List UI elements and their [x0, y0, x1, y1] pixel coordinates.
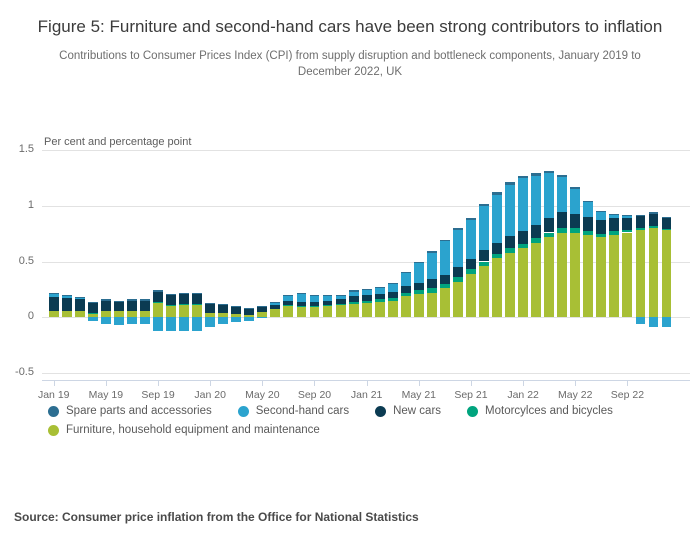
- bar-segment: [388, 298, 398, 300]
- bar-segment: [127, 301, 137, 311]
- bar-group[interactable]: [479, 128, 489, 380]
- bar-segment: [349, 302, 359, 304]
- bar-segment: [570, 187, 580, 189]
- bar-segment: [596, 212, 606, 220]
- legend-item-label: Spare parts and accessories: [66, 405, 212, 417]
- bar-segment: [401, 273, 411, 286]
- bar-segment: [440, 284, 450, 288]
- bar-segment: [479, 204, 489, 206]
- bar-segment: [401, 296, 411, 317]
- bar-segment: [453, 277, 463, 281]
- bar-segment: [479, 206, 489, 251]
- bar-segment: [636, 216, 646, 228]
- bar-segment: [218, 305, 228, 313]
- bar-group[interactable]: [453, 128, 463, 380]
- bar-segment: [310, 296, 320, 302]
- bar-segment: [166, 305, 176, 306]
- bar-group[interactable]: [609, 128, 619, 380]
- bar-segment: [270, 302, 280, 303]
- x-axis-tick-label: Jan 22: [507, 389, 539, 401]
- legend-item[interactable]: Second-hand cars: [238, 405, 349, 417]
- bar-segment: [518, 244, 528, 248]
- bar-segment: [62, 295, 72, 296]
- bar-segment: [49, 294, 59, 297]
- bar-segment: [362, 301, 372, 303]
- bar-segment: [270, 303, 280, 305]
- bar-segment: [153, 317, 163, 330]
- bar-segment: [479, 266, 489, 317]
- x-axis-tick-mark: [523, 380, 524, 386]
- bar-segment: [62, 296, 72, 298]
- bar-segment: [505, 185, 515, 236]
- bar-segment: [140, 317, 150, 324]
- bar-segment: [283, 301, 293, 305]
- bar-segment: [414, 294, 424, 317]
- x-axis-tick-mark: [262, 380, 263, 386]
- bar-segment: [570, 233, 580, 318]
- bar-segment: [518, 176, 528, 178]
- legend-item[interactable]: New cars: [375, 405, 441, 417]
- bar-segment: [114, 302, 124, 311]
- legend-item-label: Furniture, household equipment and maint…: [66, 424, 320, 436]
- bar-segment: [505, 236, 515, 248]
- bar-segment: [649, 212, 659, 213]
- bar-segment: [205, 317, 215, 327]
- bar-segment: [557, 212, 567, 228]
- bar-segment: [440, 288, 450, 317]
- bar-segment: [453, 282, 463, 318]
- bar-segment: [388, 284, 398, 292]
- y-axis-tick-label: 1: [0, 199, 34, 211]
- legend-swatch-icon: [467, 406, 478, 417]
- bar-group[interactable]: [414, 128, 424, 380]
- bar-segment: [49, 297, 59, 310]
- bar-segment: [101, 311, 111, 318]
- bar-segment: [544, 233, 554, 237]
- bar-segment: [466, 259, 476, 269]
- bar-segment: [453, 267, 463, 277]
- bar-segment: [179, 305, 189, 317]
- bar-segment: [414, 290, 424, 293]
- bar-segment: [440, 240, 450, 241]
- bar-group[interactable]: [440, 128, 450, 380]
- legend-swatch-icon: [238, 406, 249, 417]
- bar-segment: [531, 243, 541, 318]
- bar-segment: [596, 234, 606, 237]
- bar-group[interactable]: [140, 128, 150, 380]
- bar-segment: [336, 304, 346, 305]
- bar-segment: [297, 302, 307, 306]
- bar-group[interactable]: [362, 128, 372, 380]
- bar-segment: [375, 287, 385, 288]
- bar-group[interactable]: [166, 128, 176, 380]
- x-axis-tick-label: Jan 21: [351, 389, 383, 401]
- bar-segment: [140, 301, 150, 311]
- legend-swatch-icon: [48, 406, 59, 417]
- bar-segment: [401, 286, 411, 293]
- legend-item-label: New cars: [393, 405, 441, 417]
- source-note: Source: Consumer price inflation from th…: [14, 510, 419, 524]
- bar-group[interactable]: [205, 128, 215, 380]
- bar-segment: [414, 283, 424, 291]
- bar-segment: [270, 309, 280, 317]
- chart-subtitle: Contributions to Consumer Prices Index (…: [40, 49, 660, 80]
- bar-segment: [244, 317, 254, 320]
- bar-segment: [297, 306, 307, 307]
- bar-group[interactable]: [283, 128, 293, 380]
- bar-group[interactable]: [349, 128, 359, 380]
- bar-segment: [557, 228, 567, 232]
- bar-segment: [518, 248, 528, 317]
- legend-item-label: Motorcylces and bicycles: [485, 405, 613, 417]
- x-axis-tick-mark: [106, 380, 107, 386]
- bar-segment: [192, 304, 202, 305]
- bar-segment: [231, 306, 241, 307]
- x-axis-tick-label: May 19: [89, 389, 123, 401]
- bar-segment: [153, 303, 163, 317]
- bar-segment: [283, 295, 293, 296]
- bar-group[interactable]: [62, 128, 72, 380]
- bar-segment: [114, 317, 124, 325]
- bar-group[interactable]: [570, 128, 580, 380]
- bar-segment: [114, 301, 124, 302]
- bar-segment: [466, 269, 476, 273]
- bar-segment: [557, 175, 567, 177]
- bar-group[interactable]: [270, 128, 280, 380]
- bar-segment: [609, 235, 619, 318]
- x-axis-tick-mark: [158, 380, 159, 386]
- x-axis-tick-label: Sep 20: [298, 389, 331, 401]
- bar-segment: [75, 299, 85, 310]
- bar-segment: [492, 192, 502, 194]
- bar-segment: [283, 296, 293, 300]
- bar-segment: [388, 292, 398, 299]
- bar-segment: [283, 306, 293, 317]
- bar-segment: [570, 189, 580, 214]
- y-axis-tick-label: 0: [0, 310, 34, 322]
- bar-segment: [583, 235, 593, 318]
- bar-segment: [75, 311, 85, 318]
- bar-segment: [114, 311, 124, 318]
- bar-group[interactable]: [401, 128, 411, 380]
- bar-segment: [649, 226, 659, 228]
- bar-segment: [192, 317, 202, 330]
- bar-segment: [636, 228, 646, 230]
- bar-segment: [323, 296, 333, 300]
- bar-group[interactable]: [75, 128, 85, 380]
- x-axis-tick-label: Sep 22: [611, 389, 644, 401]
- bar-segment: [544, 218, 554, 232]
- bar-group[interactable]: [649, 128, 659, 380]
- bar-segment: [531, 238, 541, 242]
- bar-segment: [310, 307, 320, 317]
- bar-segment: [662, 229, 672, 230]
- bar-segment: [622, 215, 632, 216]
- bar-segment: [609, 218, 619, 231]
- bar-segment: [583, 217, 593, 231]
- x-axis-tick-label: May 22: [558, 389, 592, 401]
- bar-group[interactable]: [544, 128, 554, 380]
- bar-segment: [427, 279, 437, 288]
- bar-segment: [492, 195, 502, 243]
- bar-segment: [427, 251, 437, 252]
- bar-segment: [283, 305, 293, 306]
- bar-segment: [323, 295, 333, 296]
- bar-segment: [518, 231, 528, 243]
- bar-segment: [440, 241, 450, 274]
- bar-segment: [153, 292, 163, 302]
- bar-segment: [375, 288, 385, 294]
- bar-segment: [179, 293, 189, 294]
- bar-segment: [583, 202, 593, 216]
- bar-group[interactable]: [662, 128, 672, 380]
- bar-group[interactable]: [179, 128, 189, 380]
- bar-group[interactable]: [596, 128, 606, 380]
- bar-group[interactable]: [336, 128, 346, 380]
- x-axis-tick-mark: [575, 380, 576, 386]
- bar-segment: [179, 294, 189, 304]
- bar-segment: [244, 308, 254, 309]
- bar-segment: [375, 299, 385, 301]
- bar-segment: [596, 220, 606, 233]
- bar-group[interactable]: [505, 128, 515, 380]
- bar-segment: [166, 317, 176, 330]
- bar-segment: [531, 173, 541, 175]
- bar-segment: [62, 311, 72, 318]
- bar-group[interactable]: [310, 128, 320, 380]
- bar-segment: [75, 297, 85, 298]
- bar-segment: [127, 299, 137, 300]
- bar-group[interactable]: [101, 128, 111, 380]
- bar-segment: [609, 215, 619, 218]
- bar-segment: [362, 303, 372, 317]
- bar-segment: [557, 177, 567, 213]
- x-axis-tick-label: May 21: [402, 389, 436, 401]
- legend-item[interactable]: Motorcylces and bicycles: [467, 405, 613, 417]
- bar-segment: [140, 299, 150, 300]
- bar-segment: [336, 305, 346, 317]
- bar-group[interactable]: [622, 128, 632, 380]
- bar-segment: [583, 201, 593, 202]
- bar-group[interactable]: [153, 128, 163, 380]
- bar-segment: [466, 274, 476, 317]
- bar-group[interactable]: [375, 128, 385, 380]
- bar-group[interactable]: [583, 128, 593, 380]
- legend-item-label: Second-hand cars: [256, 405, 349, 417]
- x-axis-tick-mark: [367, 380, 368, 386]
- bar-segment: [192, 305, 202, 317]
- bar-segment: [375, 294, 385, 300]
- y-axis-tick-label: -0.5: [0, 366, 34, 378]
- x-axis-tick-label: Jan 20: [194, 389, 226, 401]
- bar-segment: [544, 171, 554, 173]
- x-axis-tick-mark: [210, 380, 211, 386]
- bar-segment: [179, 304, 189, 305]
- legend-item[interactable]: Spare parts and accessories: [48, 405, 212, 417]
- bar-segment: [310, 306, 320, 307]
- bar-segment: [414, 263, 424, 283]
- bar-segment: [257, 317, 267, 318]
- bar-segment: [466, 220, 476, 259]
- bar-segment: [492, 258, 502, 317]
- bar-segment: [49, 293, 59, 294]
- bar-segment: [649, 214, 659, 226]
- bar-segment: [622, 233, 632, 318]
- bar-segment: [414, 262, 424, 263]
- legend-row: Furniture, household equipment and maint…: [48, 424, 688, 436]
- bar-segment: [218, 304, 228, 305]
- bar-segment: [88, 302, 98, 303]
- x-axis-tick-mark: [54, 380, 55, 386]
- y-axis-tick-label: 0.5: [0, 255, 34, 267]
- bar-segment: [505, 182, 515, 184]
- bar-segment: [596, 211, 606, 212]
- bar-segment: [257, 306, 267, 307]
- bar-segment: [622, 230, 632, 232]
- bar-segment: [662, 317, 672, 327]
- bar-segment: [375, 302, 385, 318]
- bar-segment: [427, 288, 437, 292]
- bar-segment: [166, 295, 176, 305]
- bar-group[interactable]: [492, 128, 502, 380]
- bar-segment: [310, 302, 320, 306]
- bar-segment: [323, 305, 333, 306]
- bar-segment: [544, 173, 554, 218]
- bar-segment: [231, 307, 241, 314]
- bar-group[interactable]: [636, 128, 646, 380]
- bar-segment: [192, 293, 202, 294]
- bar-segment: [88, 303, 98, 313]
- bar-segment: [622, 218, 632, 230]
- bar-group[interactable]: [427, 128, 437, 380]
- bar-group[interactable]: [231, 128, 241, 380]
- bar-segment: [310, 295, 320, 296]
- bar-segment: [662, 217, 672, 218]
- x-axis-tick-mark: [314, 380, 315, 386]
- bar-segment: [636, 317, 646, 324]
- legend-swatch-icon: [375, 406, 386, 417]
- legend-item[interactable]: Furniture, household equipment and maint…: [48, 424, 320, 436]
- bar-group[interactable]: [218, 128, 228, 380]
- bar-segment: [362, 295, 372, 301]
- bar-group[interactable]: [323, 128, 333, 380]
- bar-segment: [531, 225, 541, 238]
- bar-group[interactable]: [127, 128, 137, 380]
- x-axis-tick-label: Jan 19: [38, 389, 70, 401]
- bar-segment: [609, 231, 619, 234]
- bar-segment: [101, 317, 111, 324]
- bar-segment: [583, 231, 593, 234]
- bar-segment: [401, 272, 411, 273]
- bar-segment: [362, 290, 372, 294]
- y-axis-tick-label: 1.5: [0, 143, 34, 155]
- x-axis-tick-label: May 20: [245, 389, 279, 401]
- bar-segment: [297, 293, 307, 294]
- bar-segment: [323, 301, 333, 305]
- bar-segment: [192, 294, 202, 304]
- bar-segment: [622, 216, 632, 218]
- bar-segment: [323, 306, 333, 317]
- bar-group[interactable]: [49, 128, 59, 380]
- bar-segment: [570, 228, 580, 232]
- bar-segment: [570, 214, 580, 228]
- bar-segment: [75, 298, 85, 299]
- bar-segment: [179, 317, 189, 330]
- bar-segment: [49, 311, 59, 318]
- bar-segment: [101, 301, 111, 311]
- chart-header: Figure 5: Furniture and second-hand cars…: [0, 0, 700, 80]
- page-title: Figure 5: Furniture and second-hand cars…: [32, 16, 668, 38]
- bar-group[interactable]: [518, 128, 528, 380]
- bar-segment: [270, 305, 280, 309]
- bar-segment: [453, 228, 463, 230]
- bar-group[interactable]: [297, 128, 307, 380]
- bar-segment: [218, 317, 228, 324]
- bar-segment: [88, 313, 98, 314]
- bar-segment: [518, 178, 528, 232]
- bar-segment: [388, 283, 398, 284]
- bar-segment: [297, 307, 307, 317]
- bar-segment: [427, 253, 437, 280]
- bar-segment: [297, 294, 307, 302]
- chart-legend: Spare parts and accessoriesSecond-hand c…: [48, 405, 688, 443]
- bar-segment: [205, 304, 215, 313]
- bar-group[interactable]: [531, 128, 541, 380]
- bar-segment: [127, 317, 137, 324]
- bar-segment: [531, 176, 541, 225]
- bar-segment: [153, 302, 163, 303]
- bar-group[interactable]: [257, 128, 267, 380]
- bars-container: [42, 128, 690, 380]
- bar-segment: [205, 303, 215, 304]
- bar-segment: [62, 298, 72, 310]
- legend-row: Spare parts and accessoriesSecond-hand c…: [48, 405, 688, 417]
- bar-group[interactable]: [466, 128, 476, 380]
- bar-segment: [257, 307, 267, 311]
- bar-segment: [636, 215, 646, 216]
- bar-segment: [388, 301, 398, 318]
- bar-group[interactable]: [244, 128, 254, 380]
- bar-segment: [336, 296, 346, 299]
- bar-segment: [466, 218, 476, 220]
- bar-segment: [88, 317, 98, 320]
- bar-segment: [544, 237, 554, 317]
- bar-segment: [336, 295, 346, 296]
- bar-segment: [609, 214, 619, 215]
- bar-segment: [649, 317, 659, 327]
- bar-segment: [453, 230, 463, 267]
- bar-segment: [479, 250, 489, 261]
- bar-segment: [140, 311, 150, 318]
- chart-plot-area: Per cent and percentage point -0.500.511…: [0, 128, 700, 380]
- bar-group[interactable]: [192, 128, 202, 380]
- bar-segment: [362, 289, 372, 290]
- bar-segment: [479, 262, 489, 266]
- bar-segment: [101, 299, 111, 300]
- legend-swatch-icon: [48, 425, 59, 436]
- bar-group[interactable]: [88, 128, 98, 380]
- bar-segment: [166, 306, 176, 317]
- bar-segment: [427, 293, 437, 318]
- x-axis-tick-label: Sep 21: [454, 389, 487, 401]
- bar-segment: [127, 311, 137, 318]
- bar-segment: [244, 309, 254, 315]
- bar-segment: [662, 218, 672, 229]
- bar-segment: [596, 237, 606, 317]
- bar-group[interactable]: [114, 128, 124, 380]
- bar-group[interactable]: [388, 128, 398, 380]
- bar-group[interactable]: [557, 128, 567, 380]
